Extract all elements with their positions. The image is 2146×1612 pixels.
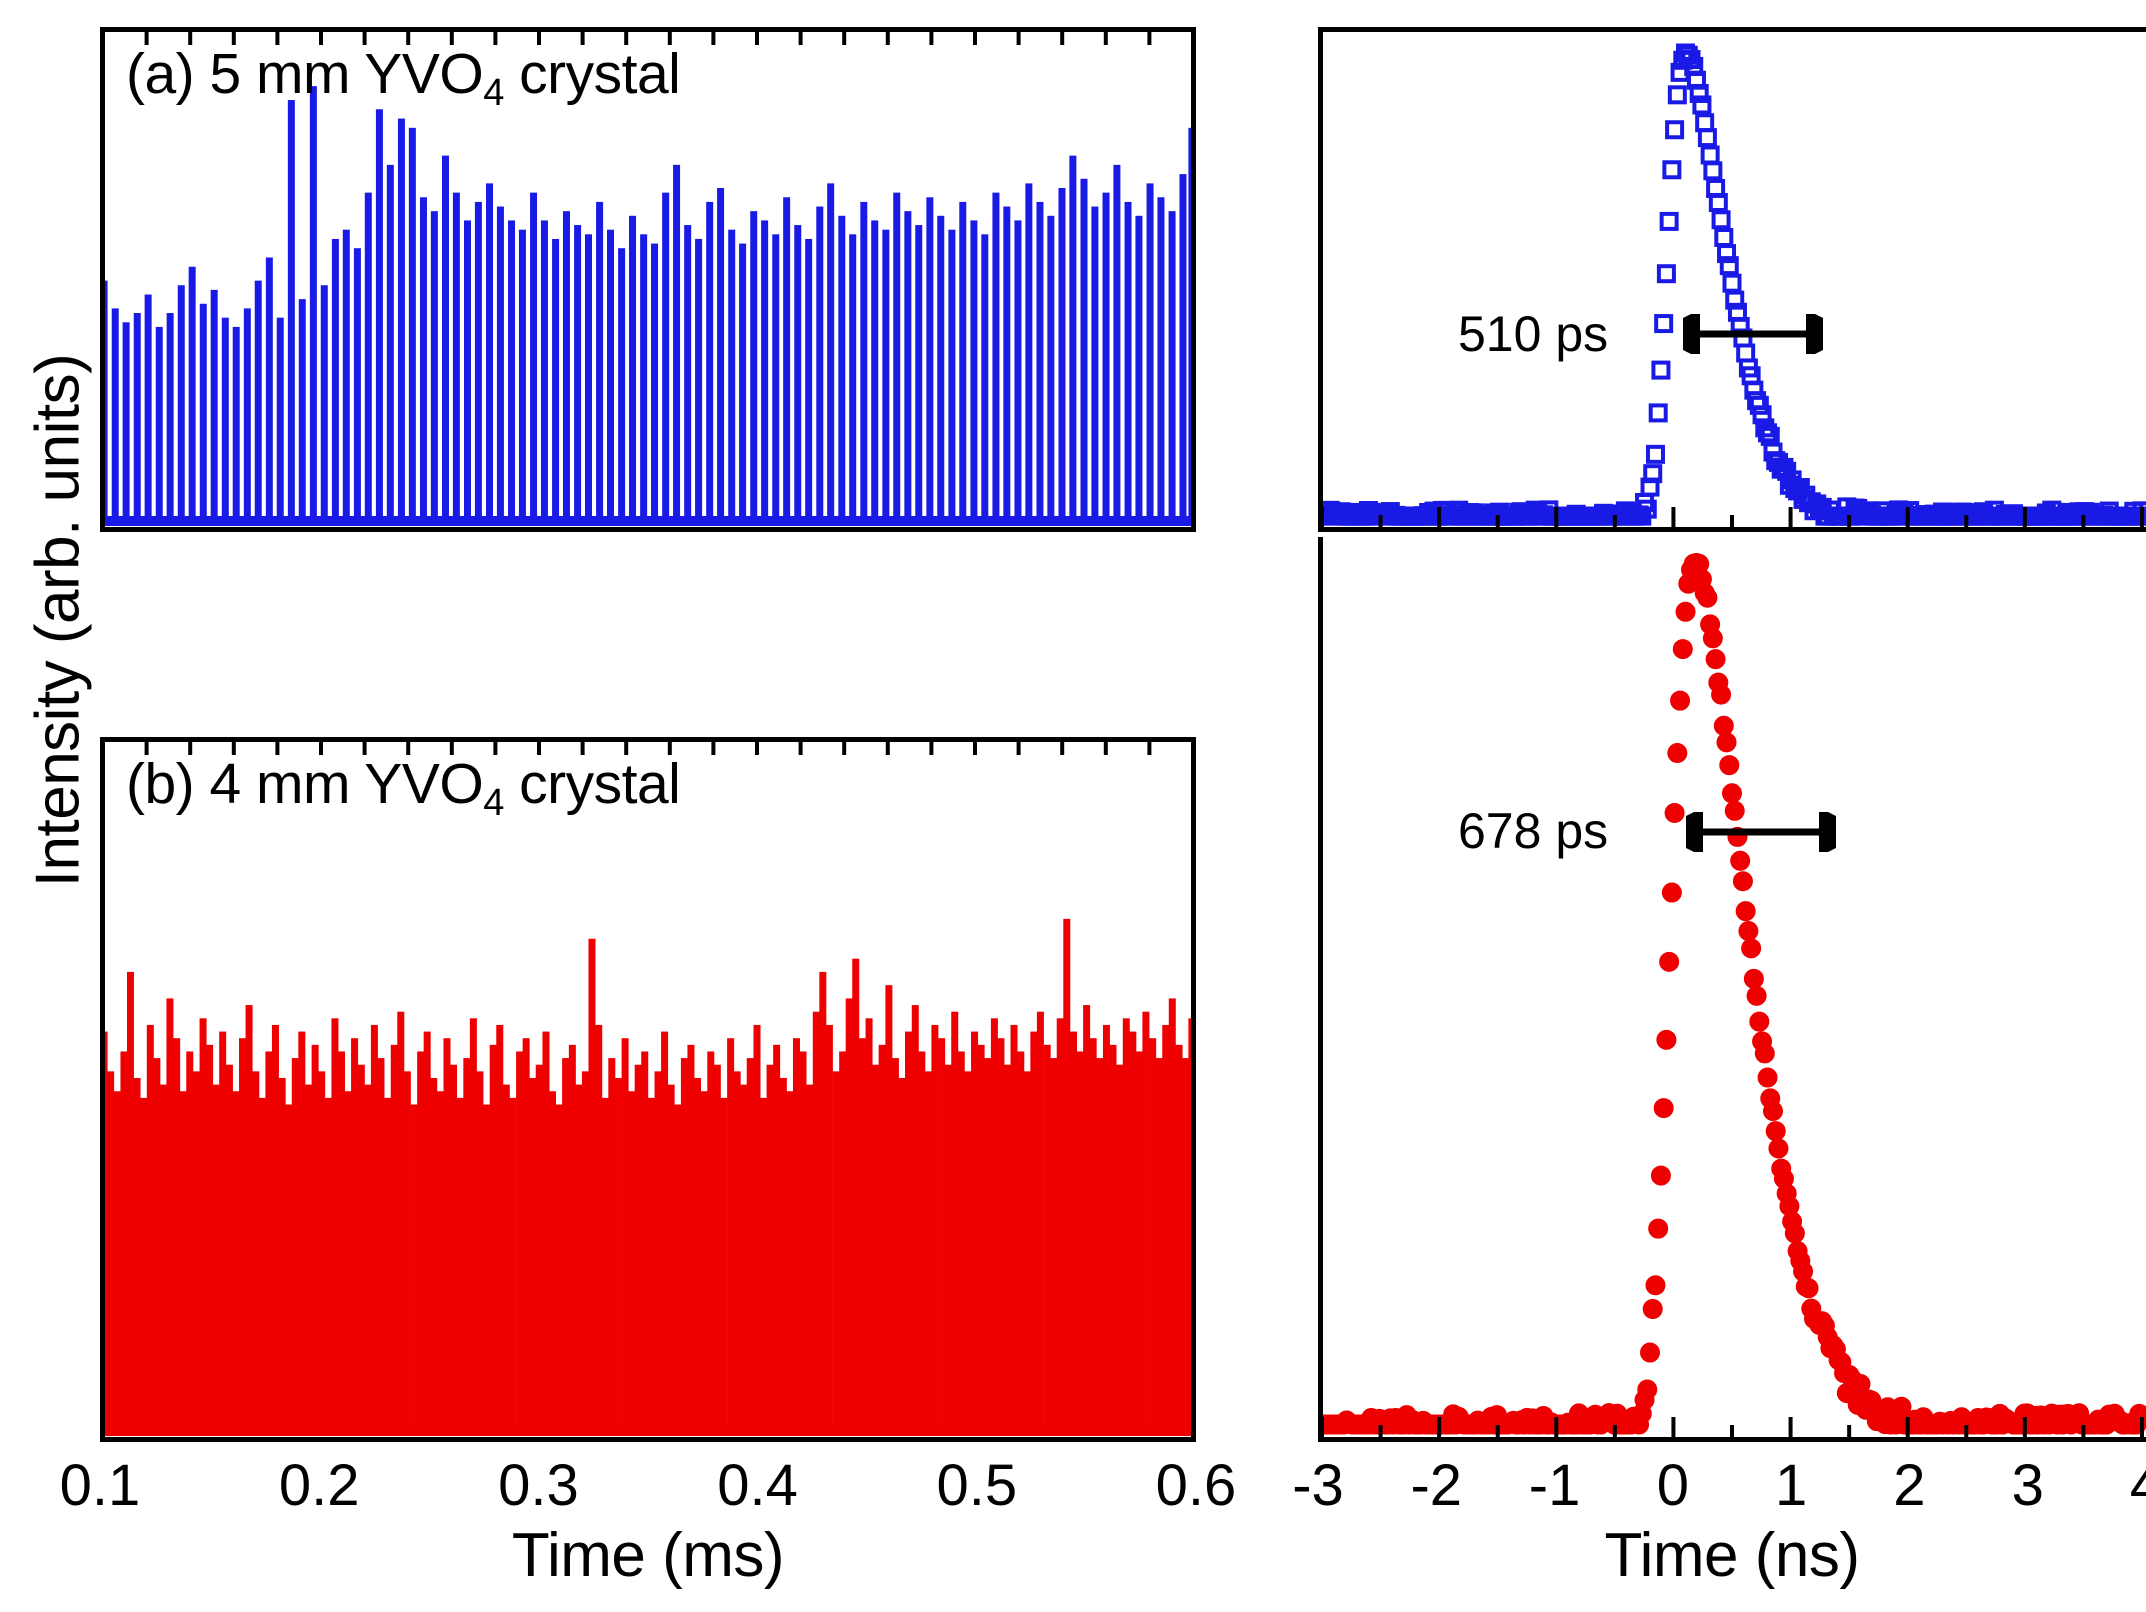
panel-a-label: (a) 5 mm YVO4 crystal <box>126 41 680 107</box>
x-tick-label: 0 <box>1657 1452 1689 1519</box>
panel-c-svg <box>1318 27 2146 532</box>
panel-b-pulse-train: (b) 4 mm YVO4 crystal <box>100 737 1196 1442</box>
panel-b-label-subscript: 4 <box>483 782 504 824</box>
fwhm-annotation-top: 510 ps <box>1458 305 1608 363</box>
panel-d-svg <box>1318 537 2146 1442</box>
x-tick-label: 0.4 <box>717 1452 798 1519</box>
panel-b-svg <box>100 737 1196 1442</box>
x-tick-label: 0.6 <box>1156 1452 1237 1519</box>
panel-b-plot-area <box>100 737 1196 1442</box>
panel-c-plot-area <box>1318 27 2146 532</box>
x-tick-label: 2 <box>1893 1452 1925 1519</box>
panel-d-plot-area <box>1318 537 2146 1442</box>
x-tick-label: 0.5 <box>936 1452 1017 1519</box>
x-tick-label: -2 <box>1410 1452 1462 1519</box>
panel-c-pulse-profile-5mm: 510 ps <box>1318 27 2146 532</box>
panel-b-label: (b) 4 mm YVO4 crystal <box>126 751 680 817</box>
panel-a-label-suffix: crystal <box>504 42 681 106</box>
panel-a-pulse-train: (a) 5 mm YVO4 crystal <box>100 27 1196 532</box>
x-tick-label: -3 <box>1292 1452 1344 1519</box>
x-tick-label: 0.3 <box>498 1452 579 1519</box>
panel-a-label-subscript: 4 <box>483 72 504 114</box>
right-x-axis-title: Time (ns) <box>1318 1520 2146 1591</box>
fwhm-annotation-bottom: 678 ps <box>1458 802 1608 860</box>
panel-a-label-prefix: (a) 5 mm YVO <box>126 42 483 106</box>
x-tick-label: 1 <box>1775 1452 1807 1519</box>
x-tick-label: 4 <box>2130 1452 2146 1519</box>
fwhm-arrow-bottom-icon <box>1686 812 1836 852</box>
panel-b-label-prefix: (b) 4 mm YVO <box>126 752 483 816</box>
panel-d-pulse-profile-4mm: 678 ps <box>1318 537 2146 1442</box>
x-tick-label: -1 <box>1529 1452 1581 1519</box>
left-x-axis-title: Time (ms) <box>100 1520 1196 1591</box>
fwhm-arrow-top-icon <box>1683 314 1823 354</box>
y-axis-label: Intensity (arb. units) <box>23 271 94 971</box>
x-tick-label: 0.2 <box>279 1452 360 1519</box>
panel-b-label-suffix: crystal <box>504 752 681 816</box>
figure-root: Intensity (arb. units) (a) 5 mm YVO4 cry… <box>0 0 2146 1612</box>
x-tick-label: 3 <box>2012 1452 2044 1519</box>
x-tick-label: 0.1 <box>60 1452 141 1519</box>
